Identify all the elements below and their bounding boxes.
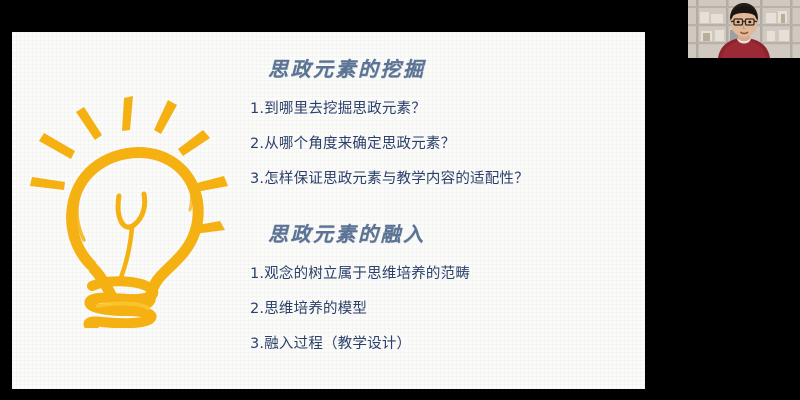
- slide-text-content: 思政元素的挖掘 1.到哪里去挖掘思政元素？ 2.从哪个角度来确定思政元素？ 3.…: [250, 54, 640, 384]
- section-heading-1: 思政元素的挖掘: [268, 54, 640, 84]
- slide-section-1: 思政元素的挖掘 1.到哪里去挖掘思政元素？ 2.从哪个角度来确定思政元素？ 3.…: [250, 54, 640, 197]
- slide-section-2: 思政元素的融入 1.观念的树立属于思维培养的范畴 2.思维培养的模型 3.融入过…: [250, 219, 640, 362]
- bullet-item: 1.观念的树立属于思维培养的范畴: [250, 257, 640, 292]
- bullet-list-2: 1.观念的树立属于思维培养的范畴 2.思维培养的模型 3.融入过程（教学设计）: [250, 257, 640, 362]
- presentation-screen: 思政元素的挖掘 1.到哪里去挖掘思政元素？ 2.从哪个角度来确定思政元素？ 3.…: [0, 0, 800, 400]
- bullet-list-1: 1.到哪里去挖掘思政元素？ 2.从哪个角度来确定思政元素？ 3.怎样保证思政元素…: [250, 92, 640, 197]
- bullet-item: 1.到哪里去挖掘思政元素？: [250, 92, 640, 127]
- bullet-item: 2.从哪个角度来确定思政元素？: [250, 127, 640, 162]
- presenter-video-thumbnail[interactable]: [688, 0, 800, 58]
- section-heading-2: 思政元素的融入: [268, 219, 640, 249]
- bullet-item: 3.怎样保证思政元素与教学内容的适配性？: [250, 162, 640, 197]
- bullet-item: 3.融入过程（教学设计）: [250, 327, 640, 362]
- bullet-item: 2.思维培养的模型: [250, 292, 640, 327]
- lightbulb-icon: [20, 90, 244, 328]
- slide-canvas: 思政元素的挖掘 1.到哪里去挖掘思政元素？ 2.从哪个角度来确定思政元素？ 3.…: [12, 32, 645, 389]
